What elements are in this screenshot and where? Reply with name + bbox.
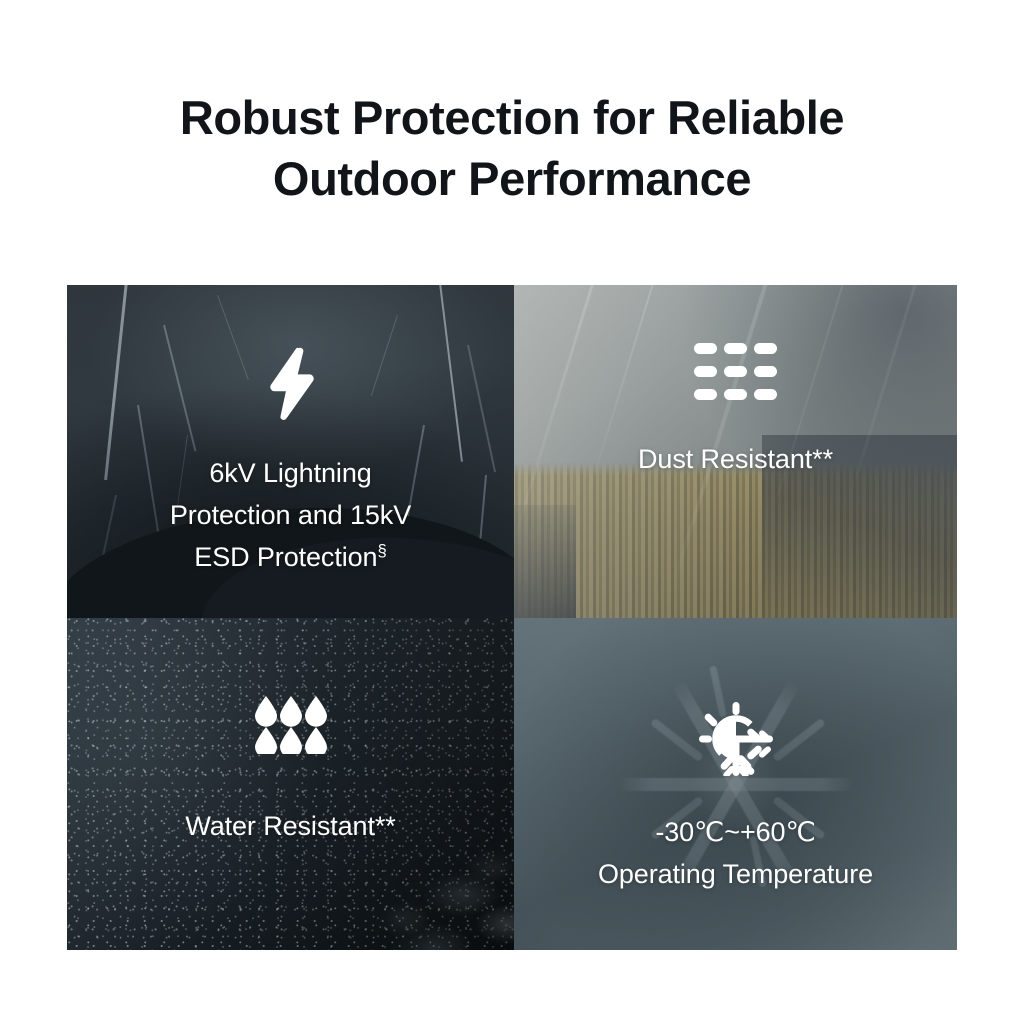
dust-grid-icon xyxy=(694,343,778,406)
feature-tile-dust-resistant[interactable]: Dust Resistant** xyxy=(514,285,957,618)
feature-tile-label: -30℃~+60℃ Operating Temperature xyxy=(598,811,873,895)
footnote-marker-section: § xyxy=(377,541,386,560)
feature-tile-lightning-protection[interactable]: 6kV Lightning Protection and 15kV ESD Pr… xyxy=(67,285,514,618)
feature-tile-label: Water Resistant** xyxy=(185,805,395,847)
lightning-bolt-icon xyxy=(264,347,318,426)
feature-tile-water-resistant[interactable]: Water Resistant** xyxy=(67,618,514,950)
water-droplets-icon xyxy=(255,696,327,759)
feature-grid: 6kV Lightning Protection and 15kV ESD Pr… xyxy=(67,285,957,950)
page-title: Robust Protection for Reliable Outdoor P… xyxy=(0,87,1024,209)
feature-tile-operating-temperature[interactable]: -30℃~+60℃ Operating Temperature xyxy=(514,618,957,950)
feature-tile-label: 6kV Lightning Protection and 15kV ESD Pr… xyxy=(170,452,411,578)
feature-tile-label: Dust Resistant** xyxy=(638,438,833,480)
sun-snowflake-icon xyxy=(699,702,773,781)
